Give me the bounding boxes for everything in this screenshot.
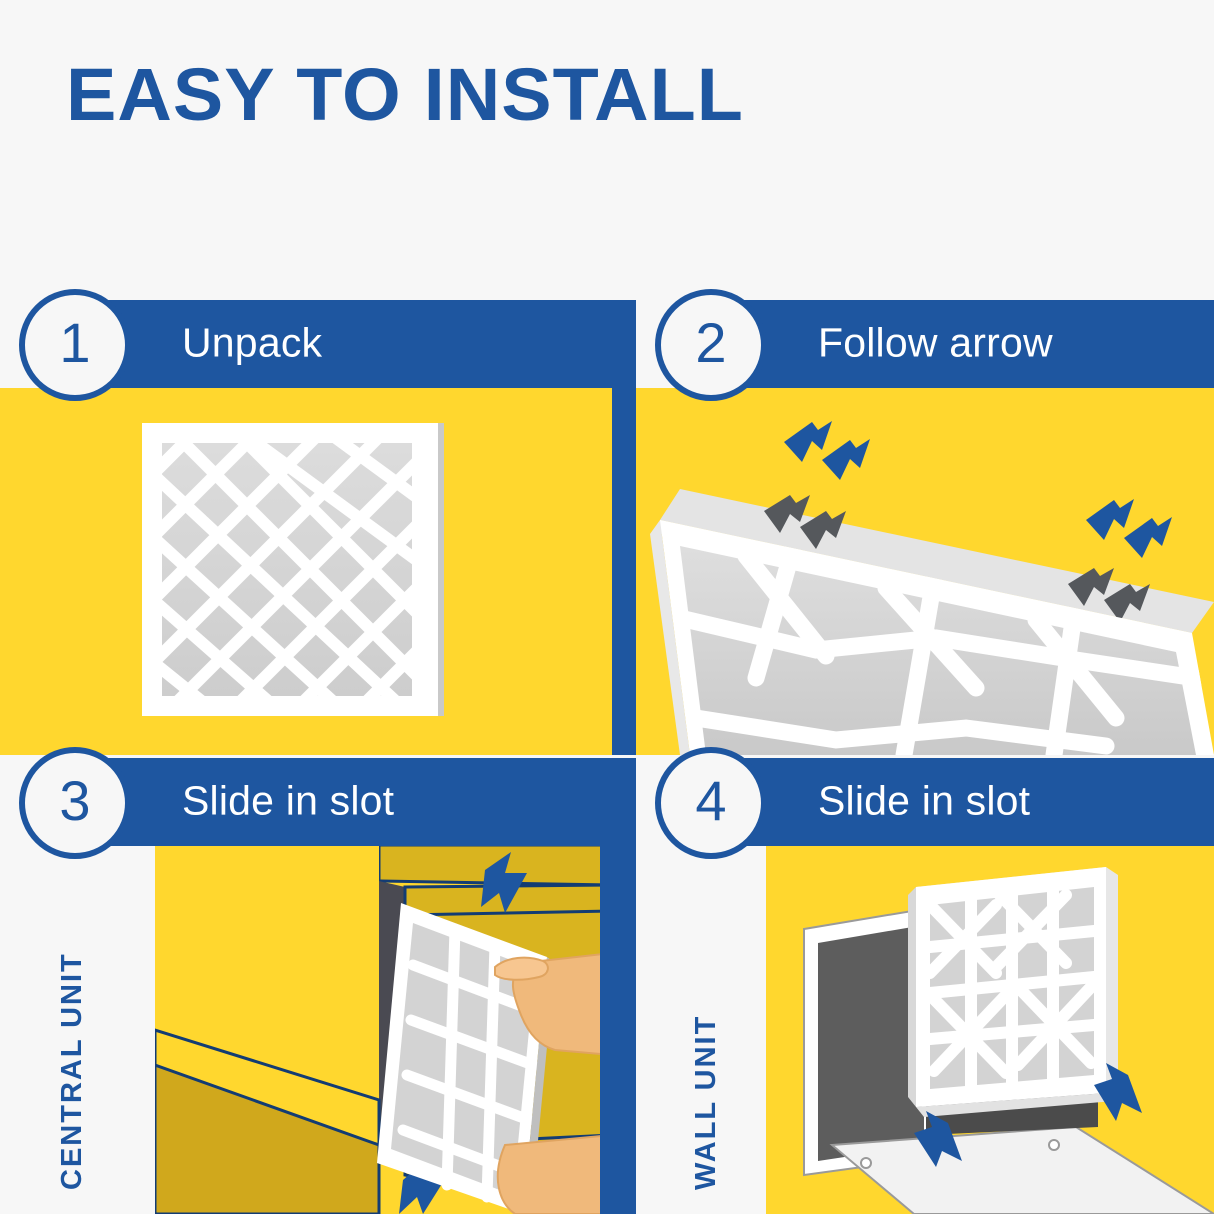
door-screw-right xyxy=(1049,1140,1059,1150)
column-divider-bottom xyxy=(612,758,636,1214)
filter-inserted-into-wall-unit-grille xyxy=(766,845,1214,1214)
hands-inserting-filter-into-central-unit xyxy=(155,845,612,1214)
filter-mesh-pattern xyxy=(162,443,412,696)
step-3-header-bar: Slide in slot xyxy=(54,758,612,846)
door-screw-left xyxy=(861,1158,871,1168)
step-4-illustration-area xyxy=(766,845,1214,1214)
page-title: EASY TO INSTALL xyxy=(66,52,744,137)
step-4-label: Slide in slot xyxy=(818,778,1030,825)
step-1-header-bar: Unpack xyxy=(54,300,612,388)
step-2-header-bar: Follow arrow xyxy=(690,300,1214,388)
airflow-arrow-blue-right xyxy=(1086,499,1172,558)
step-3-illustration-area xyxy=(155,845,612,1214)
infographic-root: EASY TO INSTALL xyxy=(0,0,1214,1214)
step-4-header-bar: Slide in slot xyxy=(690,758,1214,846)
step-1-illustration-area xyxy=(0,388,612,755)
air-filter-front-view xyxy=(142,423,438,716)
step-2-label: Follow arrow xyxy=(818,320,1053,367)
column-divider-top xyxy=(612,300,636,755)
step-3-number-badge: 3 xyxy=(19,747,131,859)
airflow-arrow-blue-left xyxy=(784,421,870,480)
step-1-number: 1 xyxy=(59,315,90,371)
step-4-number: 4 xyxy=(695,773,726,829)
step-4-number-badge: 4 xyxy=(655,747,767,859)
filter-mesh xyxy=(162,443,412,696)
panel-3-right-edge xyxy=(600,845,612,1214)
air-filter-in-wall-unit xyxy=(908,867,1118,1117)
step-3-number: 3 xyxy=(59,773,90,829)
step-4-side-label: WALL UNIT xyxy=(690,1015,723,1190)
step-2-number-badge: 2 xyxy=(655,289,767,401)
step-3-side-label: CENTRAL UNIT xyxy=(56,952,89,1190)
step-1-number-badge: 1 xyxy=(19,289,131,401)
grille-door xyxy=(832,1127,1214,1214)
step-2-illustration-area xyxy=(636,388,1214,755)
hand-lower xyxy=(498,1135,612,1214)
step-3-label: Slide in slot xyxy=(182,778,394,825)
step-2-number: 2 xyxy=(695,315,726,371)
tilted-filter-with-airflow-arrows xyxy=(636,388,1214,755)
step-1-label: Unpack xyxy=(182,320,322,367)
